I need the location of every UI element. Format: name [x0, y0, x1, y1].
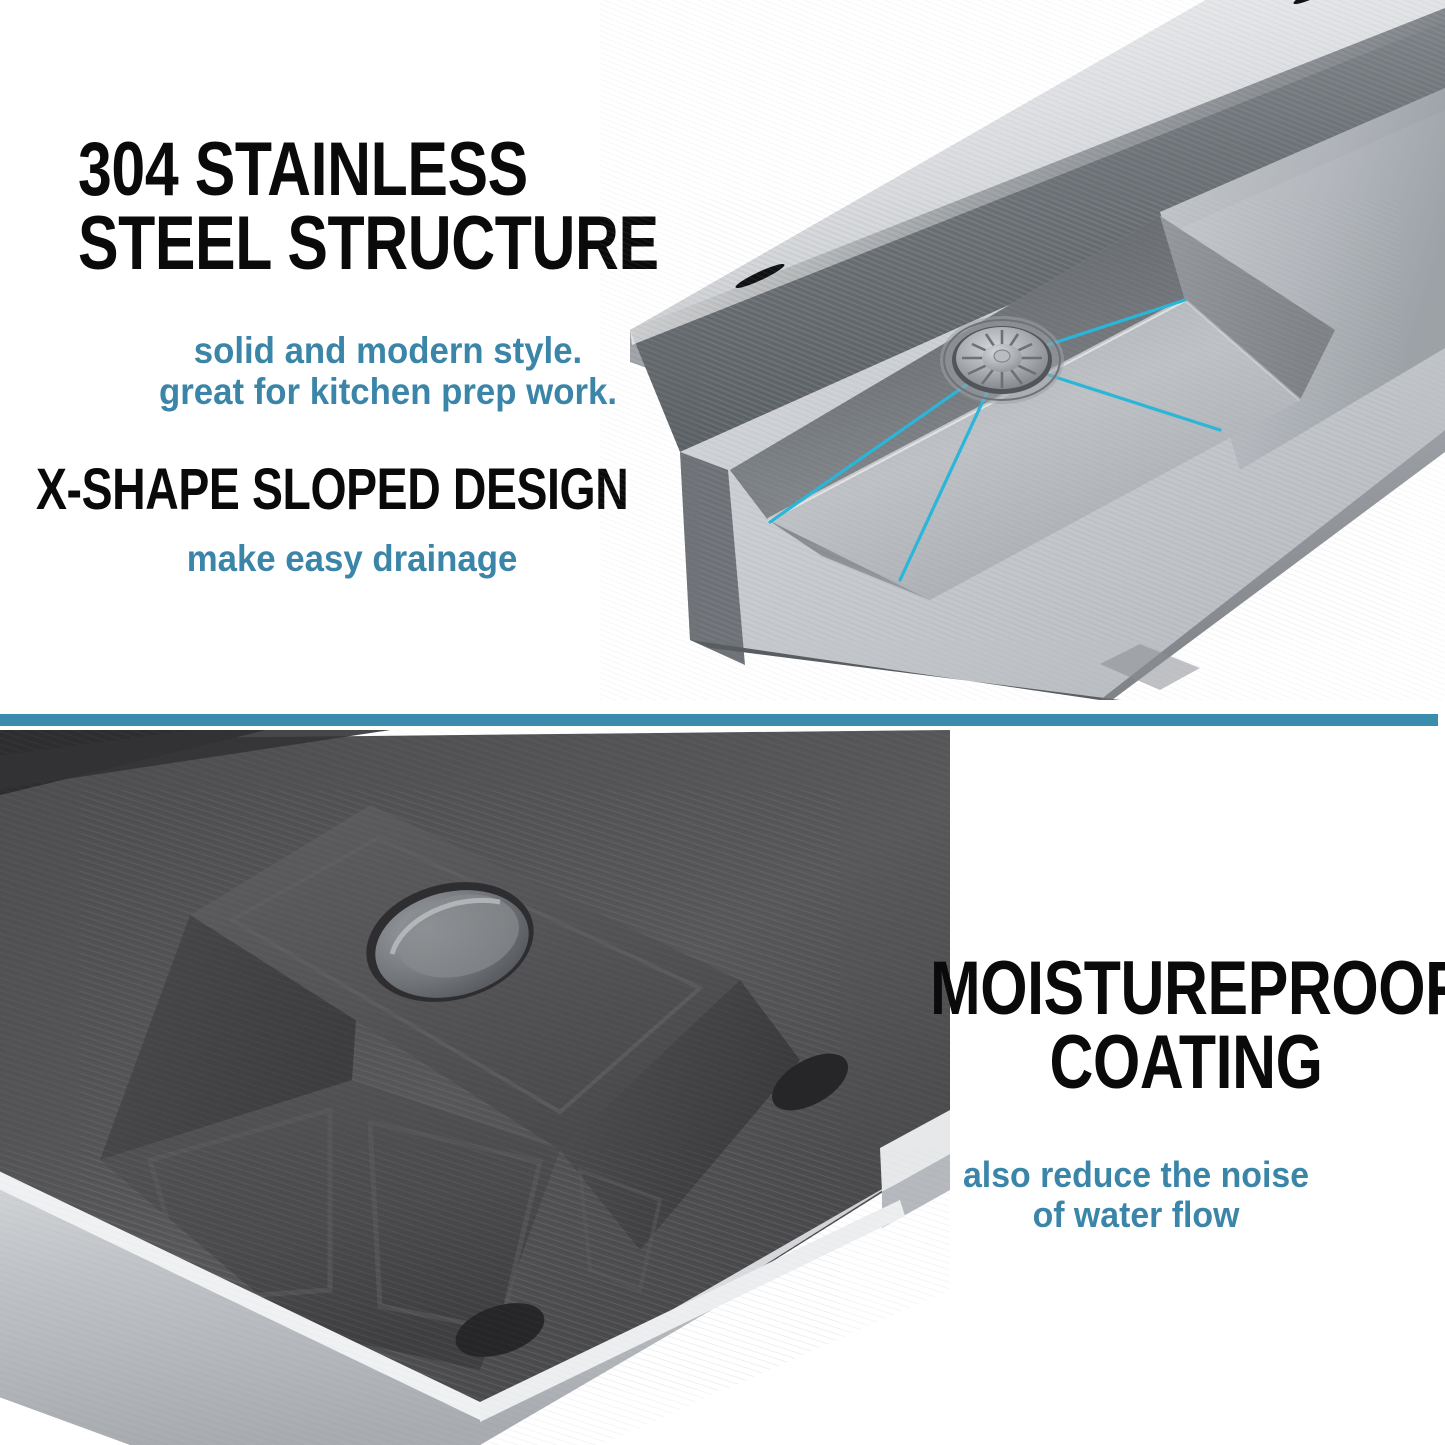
sink-basin-photo [600, 0, 1445, 700]
page-title-stainless-steel: 304 STAINLESS STEEL STRUCTURE [78, 133, 686, 280]
section-divider [0, 714, 1438, 726]
subtitle-x-shape-sloped-design: make easy drainage [61, 538, 644, 579]
subtitle-moistureproof-coating: also reduce the noise of water flow [892, 1155, 1381, 1236]
subtitle-stainless-steel: solid and modern style. great for kitche… [87, 330, 689, 413]
drain-strainer [940, 316, 1064, 404]
page-title-moistureproof-coating: MOISTUREPROOF COATING [930, 952, 1442, 1099]
sink-bowl [700, 200, 1400, 640]
infographic-page: 304 STAINLESS STEEL STRUCTURE solid and … [0, 0, 1445, 1445]
sink-underside-coating-photo [0, 730, 950, 1445]
page-title-x-shape-sloped-design: X-SHAPE SLOPED DESIGN [36, 462, 668, 518]
